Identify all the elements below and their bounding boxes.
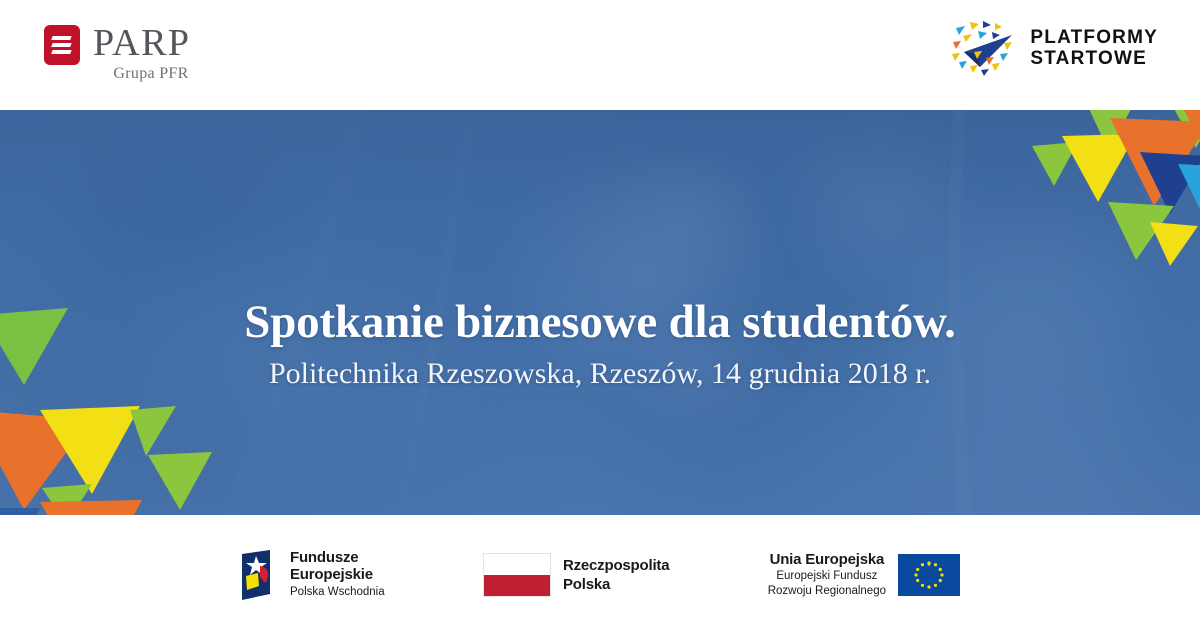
footer-logos: Fundusze Europejskie Polska Wschodnia Rz… [240,549,960,600]
rzeczpospolita-text: Rzeczpospolita Polska [563,556,669,594]
fundusze-line3: Polska Wschodnia [290,585,385,600]
page-subtitle: Politechnika Rzeszowska, Rzeszów, 14 gru… [269,355,931,393]
platformy-startowe-arrow-icon [950,18,1020,78]
parp-tagline: Grupa PFR [93,64,191,84]
fundusze-europejskie-mark-icon [240,550,280,600]
parp-wordmark: PARP [93,22,191,64]
rzeczpospolita-line1: Rzeczpospolita [563,556,669,575]
eu-flag-icon [898,554,960,596]
poster-page: PARP Grupa PFR [0,0,1200,628]
fundusze-europejskie-text: Fundusze Europejskie Polska Wschodnia [290,549,385,600]
fundusze-line1: Fundusze [290,549,385,566]
fundusze-europejskie-logo[interactable]: Fundusze Europejskie Polska Wschodnia [240,549,385,600]
fundusze-line2: Europejskie [290,566,385,583]
platformy-startowe-line1: PLATFORMY [1030,27,1158,48]
rzeczpospolita-polska-logo[interactable]: Rzeczpospolita Polska [483,553,669,597]
platformy-startowe-line2: STARTOWE [1030,48,1158,69]
parp-logo-mark-icon [44,25,80,65]
parp-logo-text: PARP Grupa PFR [93,22,191,84]
unia-line1: Unia Europejska [768,551,886,569]
header-bar: PARP Grupa PFR [0,0,1200,110]
unia-line3: Rozwoju Regionalnego [768,584,886,599]
unia-europejska-text: Unia Europejska Europejski Fundusz Rozwo… [768,551,886,599]
platformy-startowe-wordmark: PLATFORMY STARTOWE [1030,27,1158,69]
poland-flag-icon [483,553,551,597]
page-title: Spotkanie biznesowe dla studentów. [244,295,955,349]
parp-logo[interactable]: PARP Grupa PFR [44,22,191,84]
unia-europejska-logo[interactable]: Unia Europejska Europejski Fundusz Rozwo… [768,551,960,599]
platformy-startowe-logo[interactable]: PLATFORMY STARTOWE [950,18,1158,78]
unia-line2: Europejski Fundusz [768,569,886,584]
hero-banner: Spotkanie biznesowe dla studentów. Polit… [0,110,1200,515]
rzeczpospolita-line2: Polska [563,575,669,594]
footer-bar: Fundusze Europejskie Polska Wschodnia Rz… [0,515,1200,628]
hero-text-block: Spotkanie biznesowe dla studentów. Polit… [0,110,1200,515]
